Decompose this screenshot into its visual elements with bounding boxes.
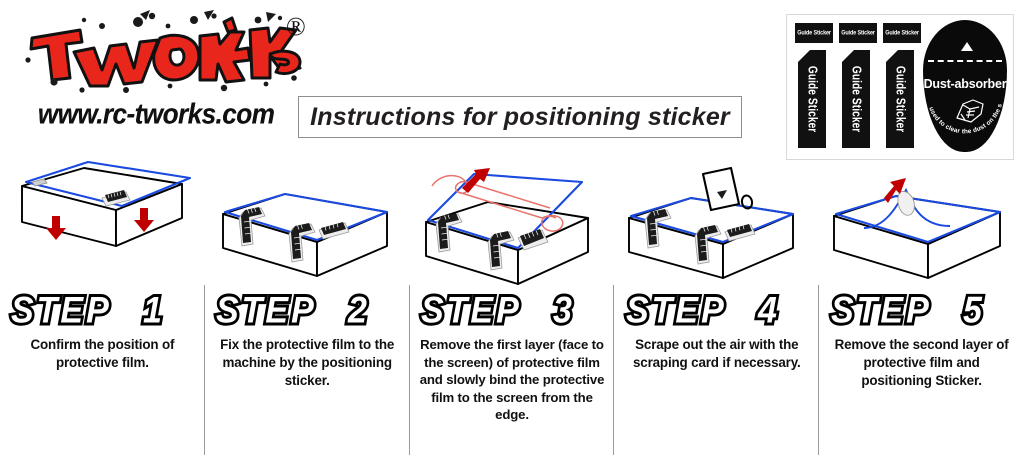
guide-sticker-tab: Guide Sticker <box>839 23 877 43</box>
guide-sticker-tab: Guide Sticker <box>795 23 833 43</box>
step-2-illustration <box>205 160 410 288</box>
up-triangle-icon <box>961 42 973 51</box>
svg-text:4: 4 <box>757 290 780 330</box>
guide-sticker-body: Guide Sticker <box>842 50 870 148</box>
svg-text:used to clear the dust on the: used to clear the dust on the screen <box>923 96 1004 135</box>
svg-text:STEP: STEP <box>831 290 932 330</box>
dust-absorber-caption: used to clear the dust on the screen <box>923 96 1007 150</box>
step-2-heading: STEP STEP 2 2 <box>205 290 410 330</box>
dust-absorber-title: Dust-absorber <box>923 77 1007 91</box>
page-title-box: Instructions for positioning sticker <box>298 96 742 138</box>
step-card-1: STEP STEP 1 1 Confirm the position of pr… <box>0 160 205 459</box>
svg-text:3: 3 <box>553 290 575 330</box>
svg-text:5: 5 <box>963 290 985 330</box>
scraping-card-icon <box>703 168 753 210</box>
svg-text:www.rc-tworks.com: www.rc-tworks.com <box>38 97 275 129</box>
step-4-heading: STEP STEP 4 4 <box>614 290 819 330</box>
sticker-parts-panel: Guide Sticker Guide Sticker Guide Sticke… <box>786 14 1014 160</box>
brand-website-graphic: www.rc-tworks.com www.rc-tworks.com <box>34 96 294 130</box>
step-1-heading: STEP STEP 1 1 <box>0 290 205 330</box>
dust-absorber-sticker: Dust-absorber used to clear the <box>923 20 1007 152</box>
step-4-illustration <box>614 160 819 288</box>
step-2-description: Fix the protective film to the machine b… <box>205 336 410 389</box>
step-1-description: Confirm the position of protective film. <box>0 336 205 372</box>
step-3-illustration <box>410 160 615 288</box>
svg-text:STEP: STEP <box>421 290 522 330</box>
step-card-5: STEP STEP 5 5 Remove the second layer of… <box>819 160 1024 459</box>
guide-sticker-body: Guide Sticker <box>798 50 826 148</box>
svg-text:2: 2 <box>347 290 370 330</box>
step-4-description: Scrape out the air with the scraping car… <box>614 336 819 372</box>
svg-text:STEP: STEP <box>11 290 112 330</box>
tear-line-divider <box>928 60 1002 62</box>
svg-text:STEP: STEP <box>626 290 727 330</box>
guide-sticker-3: Guide Sticker Guide Sticker <box>883 23 921 151</box>
steps-row: STEP STEP 1 1 Confirm the position of pr… <box>0 160 1024 459</box>
step-3-description: Remove the first layer (face to the scre… <box>410 336 615 424</box>
page-title: Instructions for positioning sticker <box>310 103 730 132</box>
step-5-heading: STEP STEP 5 5 <box>819 290 1024 330</box>
logo-wordmark-graphic <box>18 8 306 100</box>
svg-text:STEP: STEP <box>216 290 317 330</box>
step-3-heading: STEP STEP 3 3 <box>410 290 615 330</box>
registered-trademark-icon: ® <box>286 14 306 40</box>
step-card-4: STEP STEP 4 4 Scrape out the air with th… <box>614 160 819 459</box>
brand-logo: ® www.rc-tworks.com www.rc-tworks.com <box>18 8 318 138</box>
step-5-description: Remove the second layer of protective fi… <box>819 336 1024 389</box>
step-1-illustration <box>0 160 205 288</box>
guide-sticker-tab: Guide Sticker <box>883 23 921 43</box>
step-card-3: STEP STEP 3 3 Remove the first layer (fa… <box>410 160 615 459</box>
guide-sticker-body: Guide Sticker <box>886 50 914 148</box>
step-5-illustration <box>819 160 1024 288</box>
guide-sticker-2: Guide Sticker Guide Sticker <box>839 23 877 151</box>
step-card-2: STEP STEP 2 2 Fix the protective film to… <box>205 160 410 459</box>
svg-text:1: 1 <box>143 290 165 330</box>
guide-sticker-1: Guide Sticker Guide Sticker <box>795 23 833 151</box>
